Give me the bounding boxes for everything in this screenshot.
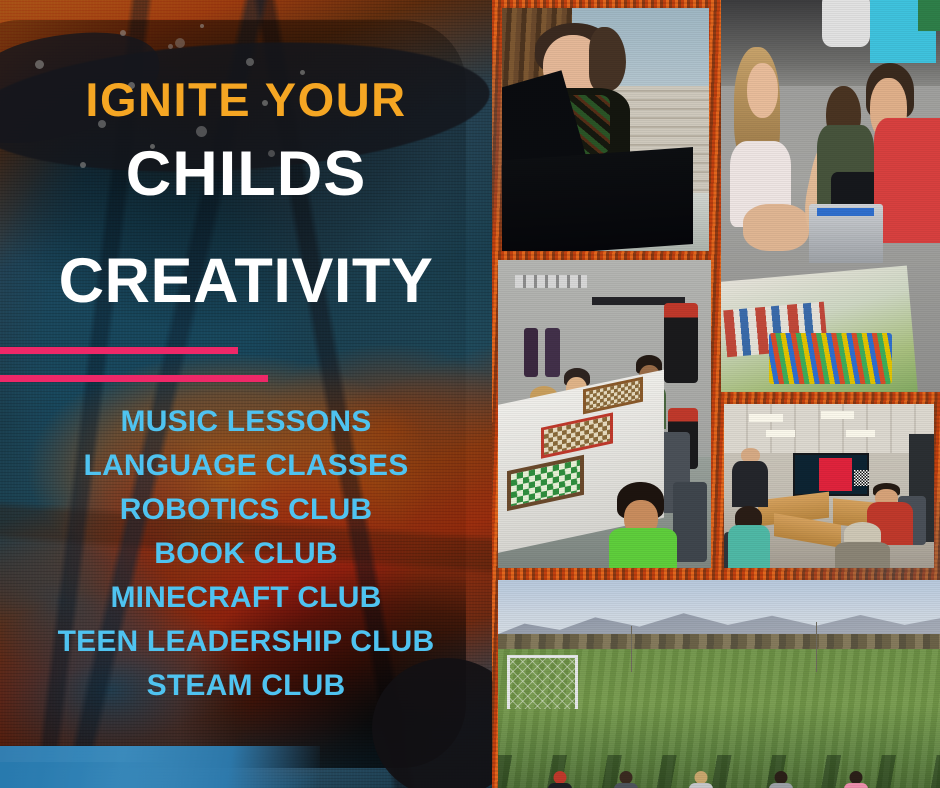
photo-chess-club (498, 260, 711, 568)
paint-splatter-dot (120, 30, 126, 36)
program-item-music-lessons: MUSIC LESSONS (0, 400, 492, 444)
program-list: MUSIC LESSONS LANGUAGE CLASSES ROBOTICS … (0, 400, 492, 708)
headline-panel: IGNITE YOUR CHILDS CREATIVITY MUSIC LESS… (0, 0, 492, 788)
headline-line-2: CHILDS (0, 138, 492, 210)
photo-piano-lesson (502, 8, 709, 251)
paint-splatter-dot (246, 58, 254, 66)
paint-splatter-dot (175, 38, 185, 48)
photo-collage (492, 0, 940, 788)
program-item-minecraft-club: MINECRAFT CLUB (0, 576, 492, 620)
photo-classroom-presentation (724, 404, 934, 568)
program-item-language-classes: LANGUAGE CLASSES (0, 444, 492, 488)
paint-splatter-dot (196, 126, 207, 137)
pink-rule-bottom (0, 375, 268, 382)
poster-canvas: IGNITE YOUR CHILDS CREATIVITY MUSIC LESS… (0, 0, 940, 788)
program-item-book-club: BOOK CLUB (0, 532, 492, 576)
paint-splatter-dot (200, 24, 204, 28)
photo-field-circle (498, 580, 940, 788)
program-item-robotics-club: ROBOTICS CLUB (0, 488, 492, 532)
paint-splatter-dot (168, 44, 173, 49)
headline-line-1: IGNITE YOUR (0, 72, 492, 127)
pink-rule-top (0, 347, 238, 354)
headline-line-3: CREATIVITY (0, 245, 492, 317)
photo-robotics-lego (721, 0, 940, 392)
blue-brush-stroke-accent (0, 762, 170, 788)
paint-splatter-dot (35, 60, 44, 69)
program-item-teen-leadership-club: TEEN LEADERSHIP CLUB (0, 620, 492, 664)
